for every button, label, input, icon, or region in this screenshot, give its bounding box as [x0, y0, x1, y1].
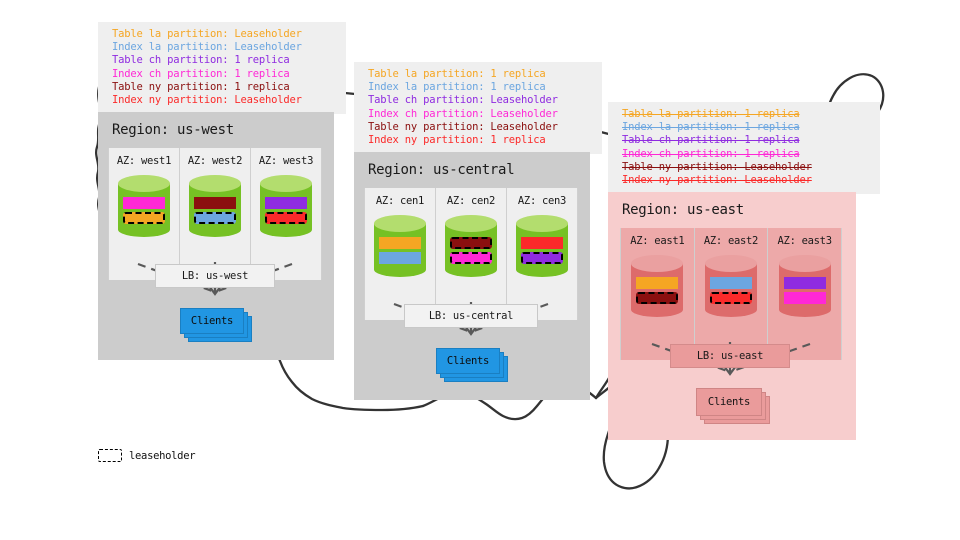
lb-label-us-west: LB: us-west	[182, 270, 248, 282]
clients-us-east[interactable]: Clients	[696, 388, 776, 426]
info-line: Table ch partition: 1 replica	[112, 54, 336, 67]
legend-leaseholder: leaseholder	[98, 449, 195, 462]
info-line: Table ny partition: 1 replica	[112, 81, 336, 94]
info-block-us-east: Table la partition: 1 replicaIndex la pa…	[608, 102, 880, 194]
region-us-central[interactable]: Region: us-central AZ: cen1AZ: cen2AZ: c…	[354, 152, 590, 400]
region-us-west[interactable]: Region: us-west AZ: west1AZ: west2AZ: we…	[98, 112, 334, 360]
info-line: Index ny partition: 1 replica	[368, 134, 592, 147]
clients-us-central[interactable]: Clients	[436, 348, 512, 384]
info-block-us-west: Table la partition: LeaseholderIndex la …	[98, 22, 346, 114]
info-line: Index la partition: 1 replica	[368, 81, 592, 94]
lb-us-east[interactable]: LB: us-east	[670, 344, 790, 368]
clients-label-us-west: Clients	[191, 315, 233, 327]
info-line: Index ch partition: 1 replica	[112, 68, 336, 81]
info-line: Index ny partition: Leaseholder	[622, 174, 870, 187]
info-line: Table ch partition: Leaseholder	[368, 94, 592, 107]
clients-label-us-east: Clients	[708, 396, 750, 408]
info-line: Table la partition: Leaseholder	[112, 28, 336, 41]
info-line: Table la partition: 1 replica	[368, 68, 592, 81]
info-line: Table la partition: 1 replica	[622, 108, 870, 121]
info-line: Index ny partition: Leaseholder	[112, 94, 336, 107]
legend-label: leaseholder	[129, 450, 195, 462]
info-line: Index la partition: 1 replica	[622, 121, 870, 134]
dashed-rect-icon	[98, 449, 122, 462]
clients-box-us-west[interactable]: Clients	[180, 308, 244, 334]
info-block-us-central: Table la partition: 1 replicaIndex la pa…	[354, 62, 602, 154]
region-us-east[interactable]: Region: us-east AZ: east1AZ: east2AZ: ea…	[608, 192, 856, 440]
clients-box-us-east[interactable]: Clients	[696, 388, 762, 416]
info-line: Table ch partition: 1 replica	[622, 134, 870, 147]
clients-us-west[interactable]: Clients	[180, 308, 256, 344]
info-line: Index ch partition: Leaseholder	[368, 108, 592, 121]
info-line: Index ch partition: 1 replica	[622, 148, 870, 161]
lb-us-central[interactable]: LB: us-central	[404, 304, 538, 328]
clients-box-us-central[interactable]: Clients	[436, 348, 500, 374]
info-line: Table ny partition: Leaseholder	[622, 161, 870, 174]
info-line: Table ny partition: Leaseholder	[368, 121, 592, 134]
lb-label-us-east: LB: us-east	[697, 350, 763, 362]
clients-label-us-central: Clients	[447, 355, 489, 367]
lb-label-us-central: LB: us-central	[429, 310, 513, 322]
lb-us-west[interactable]: LB: us-west	[155, 264, 275, 288]
info-line: Index la partition: Leaseholder	[112, 41, 336, 54]
